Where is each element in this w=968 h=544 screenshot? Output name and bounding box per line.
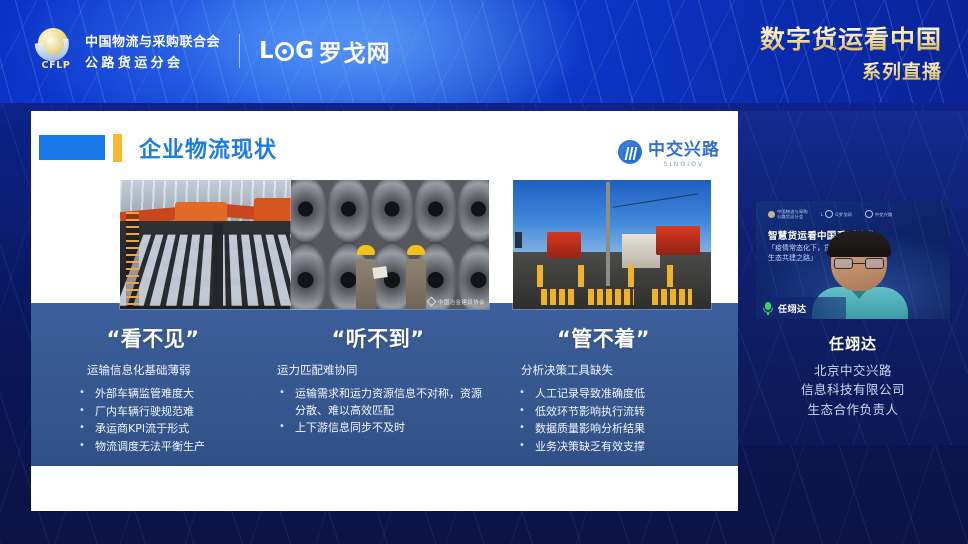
column-3-subheading: 分析决策工具缺失 [503, 362, 738, 378]
column-2-bullets: 运输需求和运力资源信息不对称，资源分散、难以高效匹配 上下游信息同步不及时 [273, 386, 489, 437]
log-letter-l: L [259, 38, 274, 64]
issue-column-1: “看不见” 运输信息化基础薄弱 外部车辆监管难度大 厂内车辆行驶规范难 承运商K… [31, 323, 263, 473]
speaker-org-line1: 北京中交兴路 [738, 361, 968, 380]
list-item: 运输需求和运力资源信息不对称，资源分散、难以高效匹配 [273, 386, 489, 419]
speaker-video-tile[interactable]: 中国物流与采购公路货运分会 LG罗戈网 中交兴路 智慧货运看中国系列沙龙 「疫情… [756, 201, 950, 319]
logo-divider [239, 34, 240, 68]
log-ring-icon [275, 42, 294, 61]
video-cflp-logo-icon: 中国物流与采购公路货运分会 [768, 209, 808, 220]
cflp-name-block: 中国物流与采购联合会 公路货运分会 [85, 31, 220, 71]
cflp-name-line2: 公路货运分会 [85, 52, 220, 71]
photo-watermark: 中国冶金建设协会 [428, 298, 485, 306]
list-item: 数据质量影响分析结果 [503, 421, 738, 438]
column-3-bullets: 人工记录导致准确度低 低效环节影响执行流转 数据质量影响分析结果 业务决策缺乏有… [503, 386, 738, 455]
list-item: 外部车辆监管难度大 [65, 386, 263, 403]
speaker-info: 任翊达 北京中交兴路 信息科技有限公司 生态合作负责人 [738, 333, 968, 419]
issue-column-3: “管不着” 分析决策工具缺失 人工记录导致准确度低 低效环节影响执行流转 数据质… [489, 323, 738, 473]
cflp-abbr-label: CFLP [37, 60, 75, 71]
photo-watermark-label: 中国冶金建设协会 [438, 300, 485, 306]
banner-title-line2: 系列直播 [760, 57, 942, 84]
sinoiov-cn-label: 中交兴路 [648, 135, 720, 160]
list-item: 上下游信息同步不及时 [273, 420, 489, 437]
sinoiov-logo: 中交兴路 SINOIOV [618, 135, 720, 168]
video-name-label: 任翊达 [778, 302, 807, 315]
issue-column-2: “听不到” 运力匹配难协同 运输需求和运力资源信息不对称，资源分散、难以高效匹配… [263, 323, 489, 473]
glasses-icon [834, 258, 884, 269]
cflp-name-line1: 中国物流与采购联合会 [85, 31, 220, 50]
log-letter-g: G [295, 38, 314, 64]
header-blue-block [39, 135, 105, 160]
photo-truck-gate [512, 179, 712, 310]
list-item: 业务决策缺乏有效支撑 [503, 439, 738, 456]
issue-columns: “看不见” 运输信息化基础薄弱 外部车辆监管难度大 厂内车辆行驶规范难 承运商K… [31, 323, 738, 473]
video-name-tag: 任翊达 [756, 297, 846, 319]
column-1-bullets: 外部车辆监管难度大 厂内车辆行驶规范难 承运商KPI流于形式 物流调度无法平衡生… [65, 386, 263, 455]
speaker-org: 北京中交兴路 信息科技有限公司 生态合作负责人 [738, 361, 968, 419]
banner-title-line1: 数字货运看中国 [760, 26, 942, 54]
list-item: 物流调度无法平衡生产 [65, 439, 263, 456]
banner-title: 数字货运看中国 系列直播 [760, 26, 942, 84]
column-1-subheading: 运输信息化基础薄弱 [65, 362, 263, 378]
slide-footer [31, 466, 738, 511]
presentation-stage: CFLP 中国物流与采购联合会 公路货运分会 L G 罗戈网 数字货运看中国 系… [0, 0, 968, 544]
log-partner-cn-label: 罗戈网 [319, 34, 391, 68]
microphone-icon[interactable] [763, 302, 773, 315]
slide-title: 企业物流现状 [139, 132, 277, 164]
speaker-org-line3: 生态合作负责人 [738, 400, 968, 419]
list-item: 承运商KPI流于形式 [65, 421, 263, 438]
video-logo-row: 中国物流与采购公路货运分会 LG罗戈网 中交兴路 [768, 209, 892, 220]
sinoiov-en-label: SINOIOV [664, 161, 705, 168]
column-2-subheading: 运力匹配难协同 [273, 362, 489, 378]
log-partner-logo: L G 罗戈网 [259, 34, 391, 68]
header-yellow-bar [113, 134, 122, 162]
event-banner: CFLP 中国物流与采购联合会 公路货运分会 L G 罗戈网 数字货运看中国 系… [0, 0, 968, 103]
list-item: 人工记录导致准确度低 [503, 386, 738, 403]
list-item: 厂内车辆行驶规范难 [65, 404, 263, 421]
speaker-name: 任翊达 [738, 333, 968, 354]
speaker-org-line2: 信息科技有限公司 [738, 380, 968, 399]
column-1-heading: “看不见” [65, 323, 263, 353]
sinoiov-emblem-icon [618, 140, 642, 164]
slide-canvas: 企业物流现状 中交兴路 SINOIOV [31, 111, 738, 511]
cflp-logo-icon: CFLP [36, 28, 76, 74]
photo-steel-coil-warehouse [119, 179, 319, 310]
video-log-logo-icon: LG罗戈网 [821, 210, 852, 218]
photo-steel-coils-workers: 中国冶金建设协会 [290, 179, 490, 310]
speaker-sidebar: 中国物流与采购公路货运分会 LG罗戈网 中交兴路 智慧货运看中国系列沙龙 「疫情… [738, 111, 968, 445]
logo-lockup: CFLP 中国物流与采购联合会 公路货运分会 L G 罗戈网 [36, 28, 391, 74]
slide-header: 企业物流现状 中交兴路 SINOIOV [31, 111, 738, 175]
video-sinoiov-logo-icon: 中交兴路 [865, 210, 893, 218]
column-3-heading: “管不着” [503, 323, 738, 353]
column-2-heading: “听不到” [273, 323, 489, 353]
list-item: 低效环节影响执行流转 [503, 404, 738, 421]
